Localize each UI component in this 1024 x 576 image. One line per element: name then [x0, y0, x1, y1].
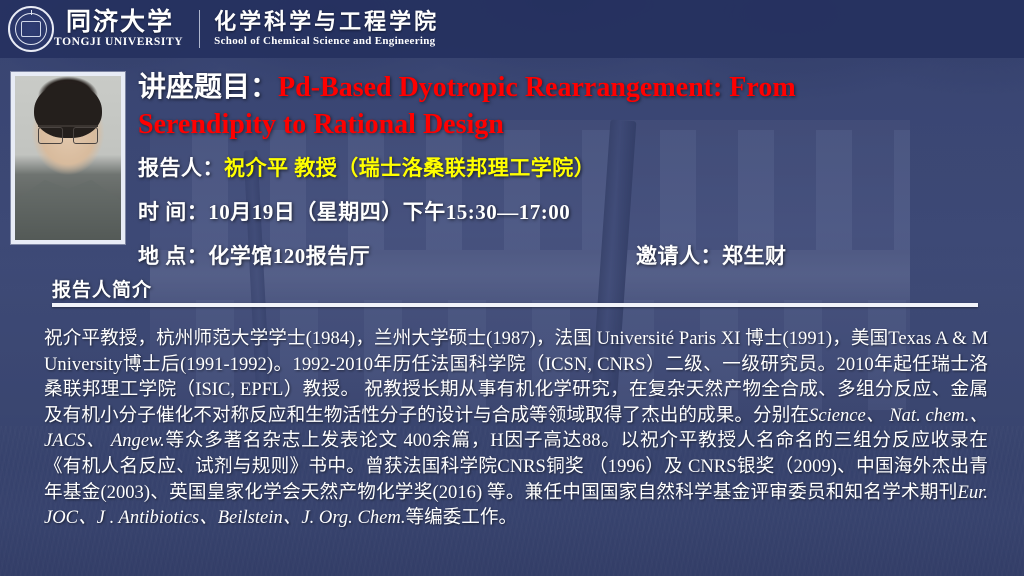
lecture-title: 讲座题目：Pd-Based Dyotropic Rearrangement: F…	[138, 70, 898, 144]
header-band: 同济大学 TONGJI UNIVERSITY 化学科学与工程学院 School …	[0, 0, 1024, 58]
bio-body: 祝介平教授，杭州师范大学学士(1984)，兰州大学硕士(1987)，法国 Uni…	[44, 326, 988, 531]
header-divider	[199, 10, 200, 48]
bio-divider	[52, 303, 978, 307]
time-row: 时 间：10月19日（星期四）下午15:30—17:00	[138, 196, 998, 226]
speaker-label: 报告人：	[138, 156, 224, 180]
bio-heading: 报告人简介	[52, 275, 152, 302]
seal-inner-ring	[21, 21, 41, 37]
seal-tick	[31, 10, 32, 15]
place-label: 地 点：	[138, 244, 208, 268]
inviter-label: 邀请人：	[636, 244, 722, 268]
portrait-glasses	[38, 125, 97, 142]
university-seal-icon	[8, 6, 54, 52]
lecture-title-label: 讲座题目：	[138, 72, 278, 103]
speaker-portrait-image	[15, 76, 121, 240]
time-value: 10月19日（星期四）下午15:30—17:00	[208, 200, 570, 224]
lecture-poster: 同济大学 TONGJI UNIVERSITY 化学科学与工程学院 School …	[0, 0, 1024, 576]
bio-paragraph-3: 等编委工作。	[406, 507, 518, 528]
place-value: 化学馆120报告厅	[208, 244, 370, 268]
speaker-portrait	[11, 72, 125, 244]
inviter-block: 邀请人：郑生财	[636, 240, 787, 270]
portrait-shirt	[15, 174, 121, 240]
inviter-name: 郑生财	[722, 244, 787, 268]
speaker-name: 祝介平 教授（瑞士洛桑联邦理工学院）	[224, 156, 595, 180]
school-name-en: School of Chemical Science and Engineeri…	[214, 35, 439, 48]
university-name-en: TONGJI UNIVERSITY	[54, 36, 183, 49]
place-row: 地 点：化学馆120报告厅 邀请人：郑生财	[138, 240, 998, 270]
bio-paragraph-2: 等众多著名杂志上发表论文 400余篇，H因子高达88。以祝介平教授人名命名的三组…	[44, 430, 988, 502]
school-name-cn: 化学科学与工程学院	[214, 10, 439, 34]
school-brand: 化学科学与工程学院 School of Chemical Science and…	[214, 10, 439, 47]
time-label: 时 间：	[138, 200, 208, 224]
university-name-cn: 同济大学	[66, 10, 183, 36]
speaker-row: 报告人：祝介平 教授（瑞士洛桑联邦理工学院）	[138, 152, 998, 182]
university-brand: 同济大学 TONGJI UNIVERSITY	[54, 10, 183, 49]
